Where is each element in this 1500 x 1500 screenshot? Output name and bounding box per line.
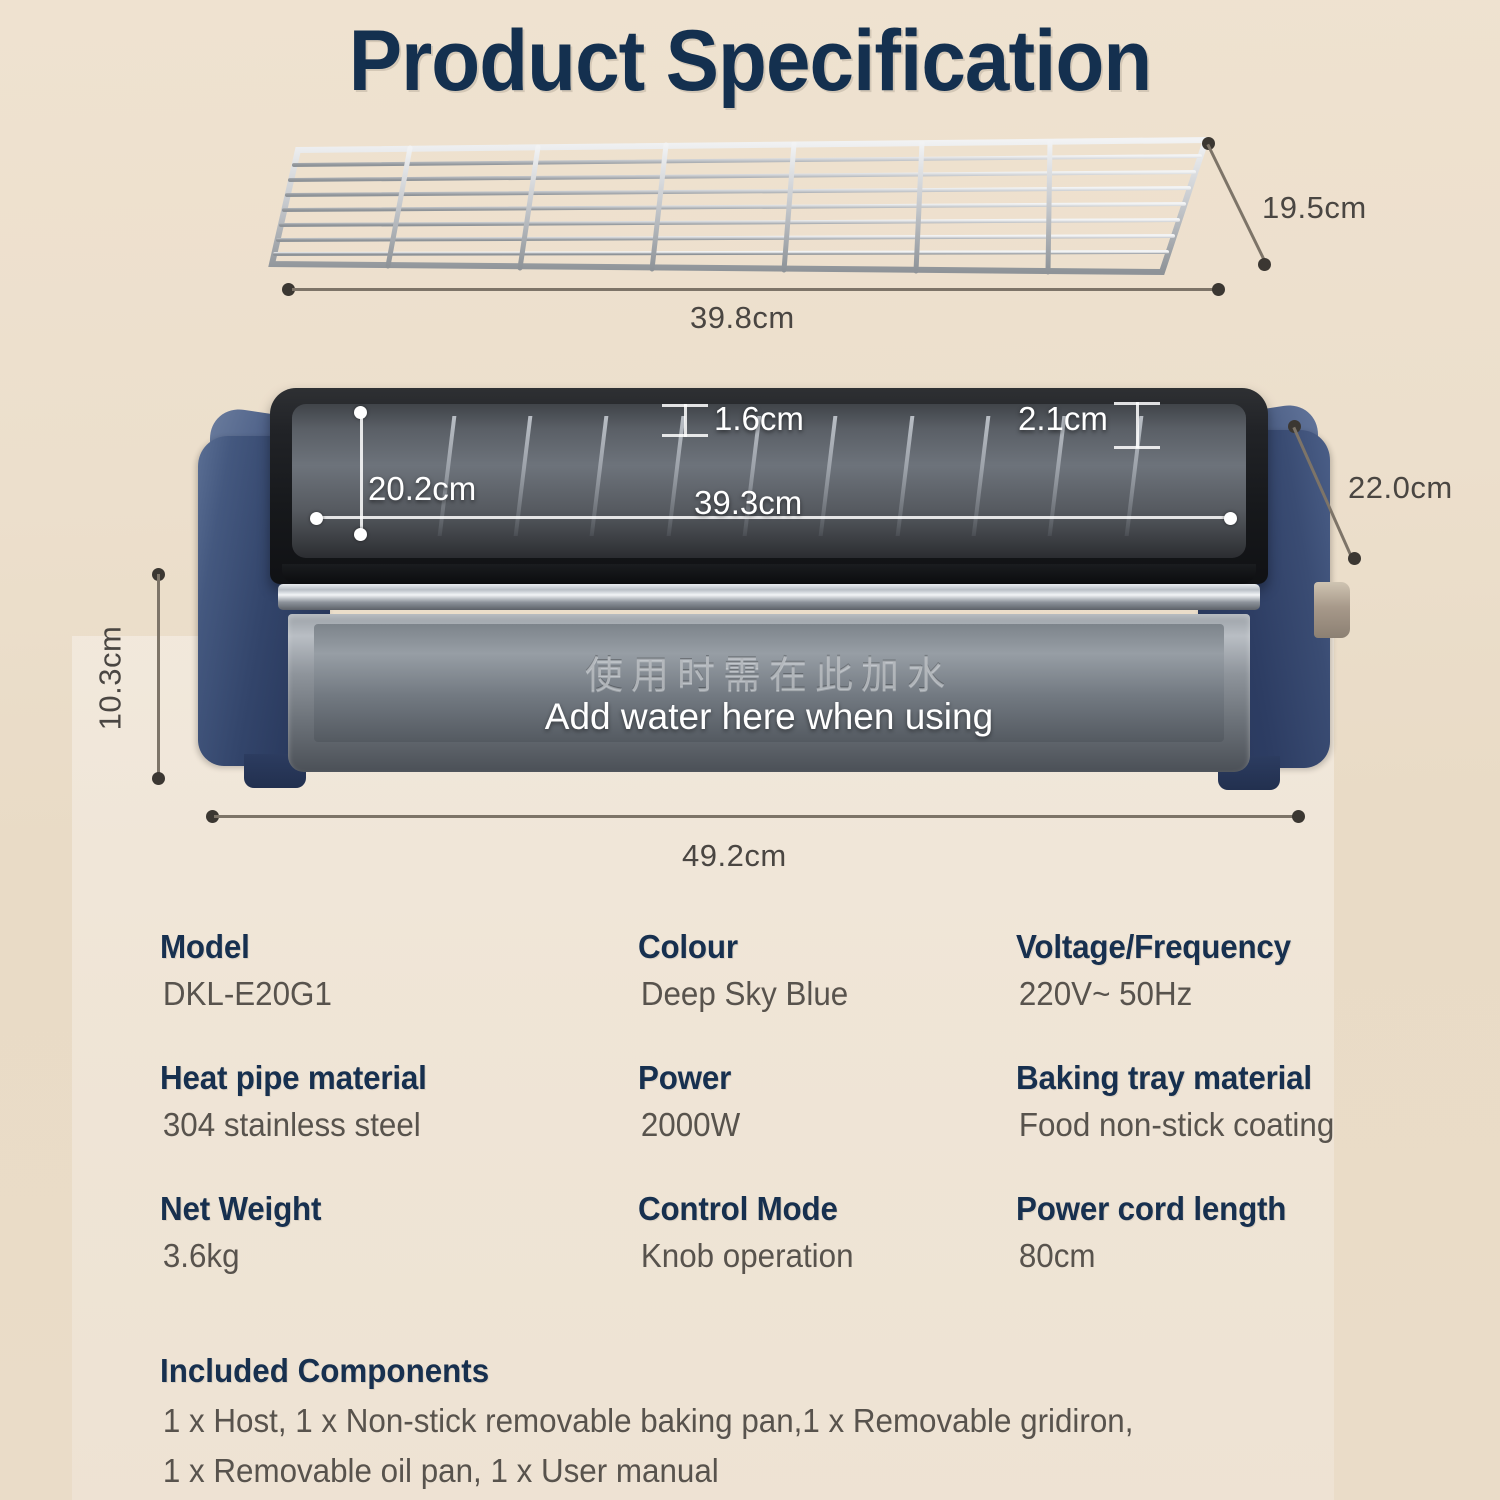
height-dot-bottom [152, 772, 165, 785]
depth-dot-bottom [1348, 552, 1361, 565]
plate-thickness-line [684, 404, 687, 437]
plate-depth-label: 20.2cm [368, 470, 476, 508]
spec-value: 220V~ 50Hz [1016, 975, 1381, 1013]
spec-row: Heat pipe material 304 stainless steel P… [160, 1059, 1400, 1144]
spec-value: 80cm [1016, 1237, 1381, 1275]
baking-pan-lip [282, 564, 1256, 584]
page-background: Product Specification [0, 0, 1500, 1500]
tray-chinese-text: 使用时需在此加水 [314, 644, 1224, 699]
spec-value: Deep Sky Blue [638, 975, 997, 1013]
spec-value: Knob operation [638, 1237, 997, 1275]
electric-grill-illustration: 使用时需在此加水 Add water here when using 20.2c… [196, 388, 1336, 798]
spec-value: 2000W [638, 1106, 997, 1144]
spec-cell-net-weight: Net Weight 3.6kg [160, 1190, 638, 1275]
included-components-section: Included Components 1 x Host, 1 x Non-st… [160, 1352, 1440, 1490]
specification-table: Model DKL-E20G1 Colour Deep Sky Blue Vol… [160, 928, 1400, 1321]
spec-label: Baking tray material [1016, 1059, 1381, 1097]
chrome-band [278, 584, 1260, 610]
width-label: 49.2cm [682, 838, 787, 874]
spec-cell-baking-tray-material: Baking tray material Food non-stick coat… [1016, 1059, 1400, 1144]
spec-label: Power [638, 1059, 997, 1097]
depth-label: 22.0cm [1348, 470, 1453, 506]
spec-label: Model [160, 928, 614, 966]
plate-thickness-label: 1.6cm [714, 400, 804, 438]
gridiron-illustration [262, 132, 1222, 287]
plate-width-label: 39.3cm [694, 484, 802, 522]
rack-width-dot-right [1212, 283, 1225, 296]
plate-edge-label: 2.1cm [1018, 400, 1108, 438]
tray-english-text: Add water here when using [314, 696, 1224, 738]
spec-cell-colour: Colour Deep Sky Blue [638, 928, 1016, 1013]
plate-width-dot-right [1224, 512, 1237, 525]
plate-edge-line [1136, 402, 1139, 448]
spec-label: Net Weight [160, 1190, 614, 1228]
included-components-title: Included Components [160, 1352, 1376, 1390]
spec-value: 304 stainless steel [160, 1106, 614, 1144]
rack-depth-label: 19.5cm [1262, 190, 1367, 226]
spec-label: Colour [638, 928, 997, 966]
spec-cell-model: Model DKL-E20G1 [160, 928, 638, 1013]
included-components-line-2: 1 x Removable oil pan, 1 x User manual [160, 1452, 1376, 1490]
spec-row: Net Weight 3.6kg Control Mode Knob opera… [160, 1190, 1400, 1275]
spec-cell-control-mode: Control Mode Knob operation [638, 1190, 1016, 1275]
width-dot-right [1292, 810, 1305, 823]
plate-width-dot-left [310, 512, 323, 525]
spec-label: Heat pipe material [160, 1059, 614, 1097]
spec-cell-heat-pipe-material: Heat pipe material 304 stainless steel [160, 1059, 638, 1144]
spec-row: Model DKL-E20G1 Colour Deep Sky Blue Vol… [160, 928, 1400, 1013]
spec-cell-voltage: Voltage/Frequency 220V~ 50Hz [1016, 928, 1400, 1013]
rack-depth-dot-bottom [1258, 258, 1271, 271]
height-label: 10.3cm [92, 626, 128, 731]
spec-value: DKL-E20G1 [160, 975, 614, 1013]
width-line [214, 815, 1296, 818]
height-line [157, 574, 160, 778]
included-components-line-1: 1 x Host, 1 x Non-stick removable baking… [160, 1402, 1376, 1440]
rack-width-line [292, 288, 1216, 291]
spec-cell-power: Power 2000W [638, 1059, 1016, 1144]
oil-pan-basin: 使用时需在此加水 Add water here when using [314, 624, 1224, 742]
spec-label: Control Mode [638, 1190, 997, 1228]
control-knob[interactable] [1314, 582, 1350, 638]
removable-oil-pan: 使用时需在此加水 Add water here when using [288, 614, 1250, 772]
spec-label: Power cord length [1016, 1190, 1381, 1228]
spec-label: Voltage/Frequency [1016, 928, 1381, 966]
rack-width-label: 39.8cm [690, 300, 795, 336]
page-title: Product Specification [53, 12, 1448, 111]
spec-value: Food non-stick coating [1016, 1106, 1381, 1144]
spec-value: 3.6kg [160, 1237, 614, 1275]
plate-depth-dot-bottom [354, 528, 367, 541]
spec-cell-power-cord-length: Power cord length 80cm [1016, 1190, 1400, 1275]
